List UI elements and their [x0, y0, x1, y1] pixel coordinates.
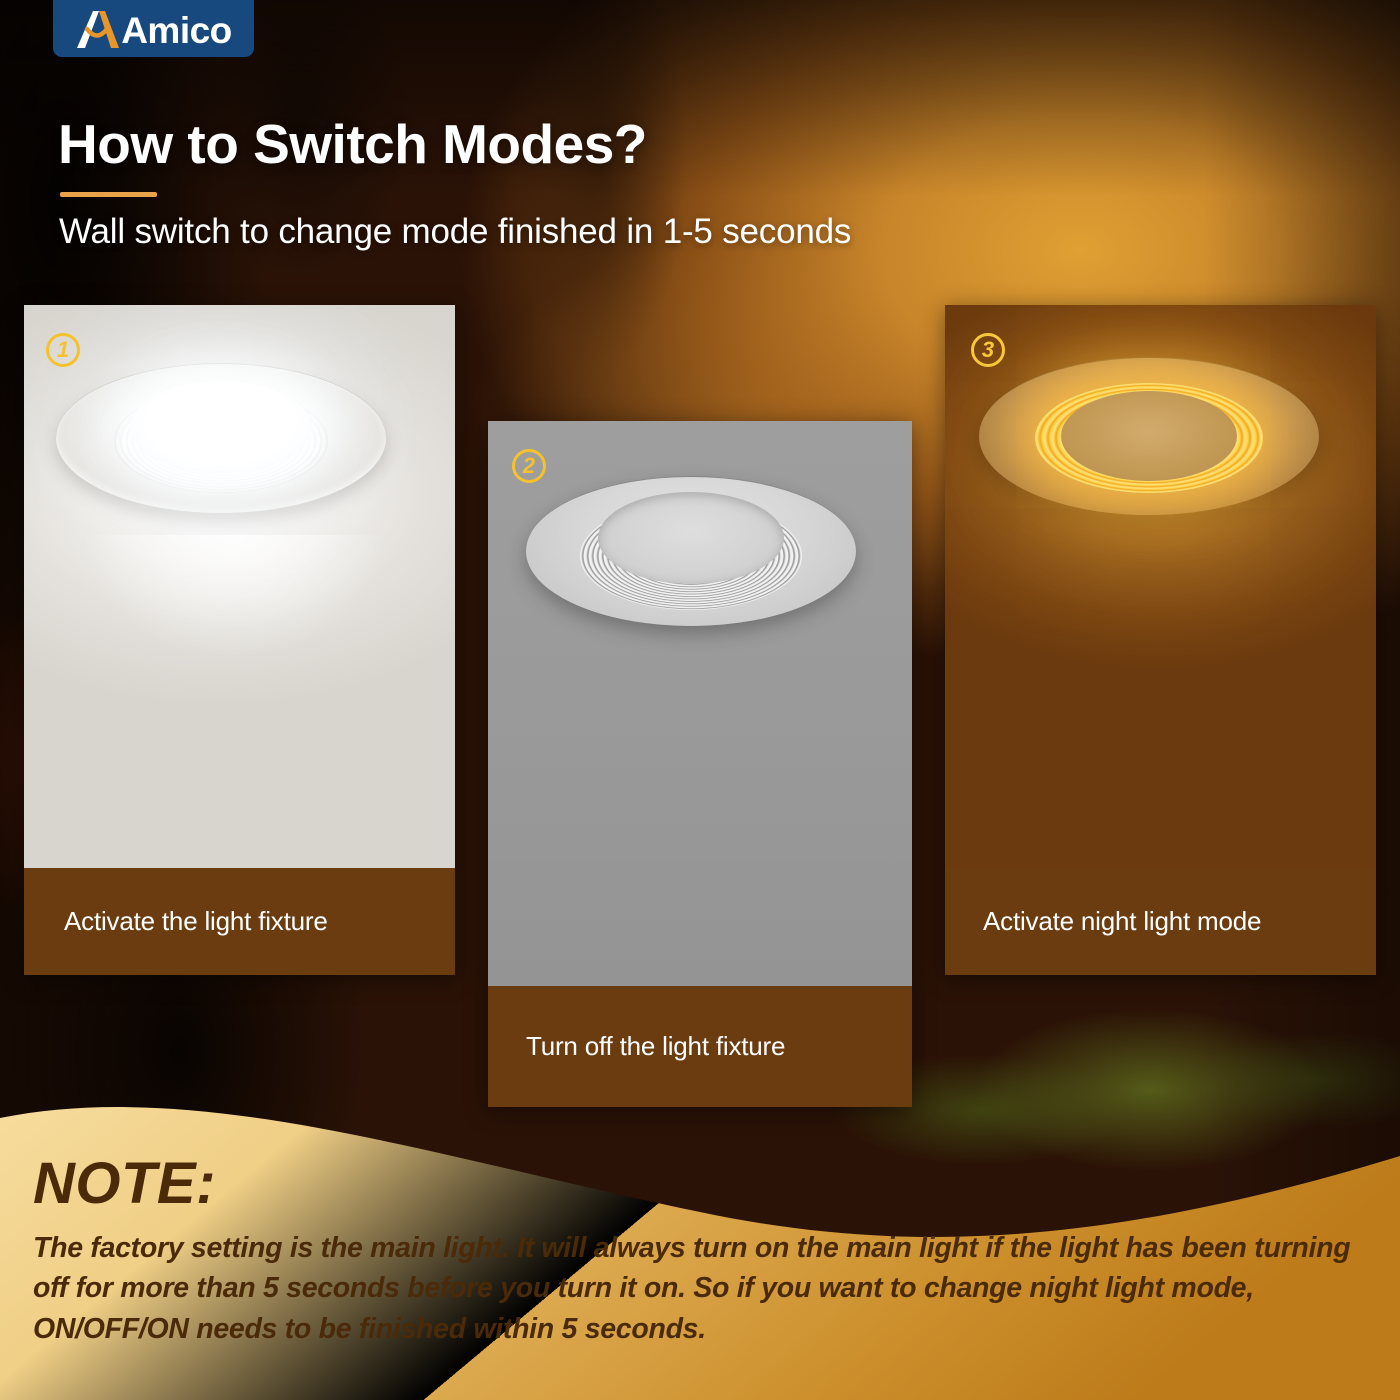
- fixture-lens-unlit: [598, 492, 784, 584]
- downlight-fixture-on: [56, 363, 386, 513]
- step-card-3: 3 ON Activate night light mode: [945, 305, 1376, 975]
- step-badge-2: 2: [512, 449, 546, 483]
- step-card-2: 2 OFF Turn off the light fixture: [488, 421, 912, 1107]
- logo-wordmark: Amico: [121, 12, 232, 49]
- light-spill-glow: [34, 535, 434, 865]
- fixture-lens-dim: [1061, 391, 1237, 481]
- note-title: NOTE:: [33, 1150, 216, 1217]
- step-badge-1: 1: [46, 333, 80, 367]
- downlight-fixture-nightlight: [979, 357, 1319, 515]
- page-subtitle: Wall switch to change mode finished in 1…: [59, 212, 851, 252]
- step-1-caption: Activate the light fixture: [24, 868, 455, 975]
- step-card-1: 1 ON Activate the light fixture: [24, 305, 455, 975]
- infographic-root: Amico How to Switch Modes? Wall switch t…: [0, 0, 1400, 1400]
- downlight-fixture-off: [526, 476, 856, 626]
- step-3-photo: 3 ON: [945, 305, 1376, 868]
- step-badge-3: 3: [971, 333, 1005, 367]
- fixture-lens-lit: [130, 381, 312, 473]
- amico-a-mark-icon: [75, 9, 119, 49]
- brand-logo: Amico: [53, 0, 254, 57]
- title-underline-rule: [60, 192, 157, 197]
- step-1-photo: 1 ON: [24, 305, 455, 868]
- step-3-caption: Activate night light mode: [945, 868, 1376, 975]
- step-2-photo: 2 OFF: [488, 421, 912, 986]
- note-section: NOTE: The factory setting is the main li…: [0, 1070, 1400, 1400]
- note-body-text: The factory setting is the main light. I…: [33, 1228, 1371, 1349]
- page-title: How to Switch Modes?: [58, 112, 647, 176]
